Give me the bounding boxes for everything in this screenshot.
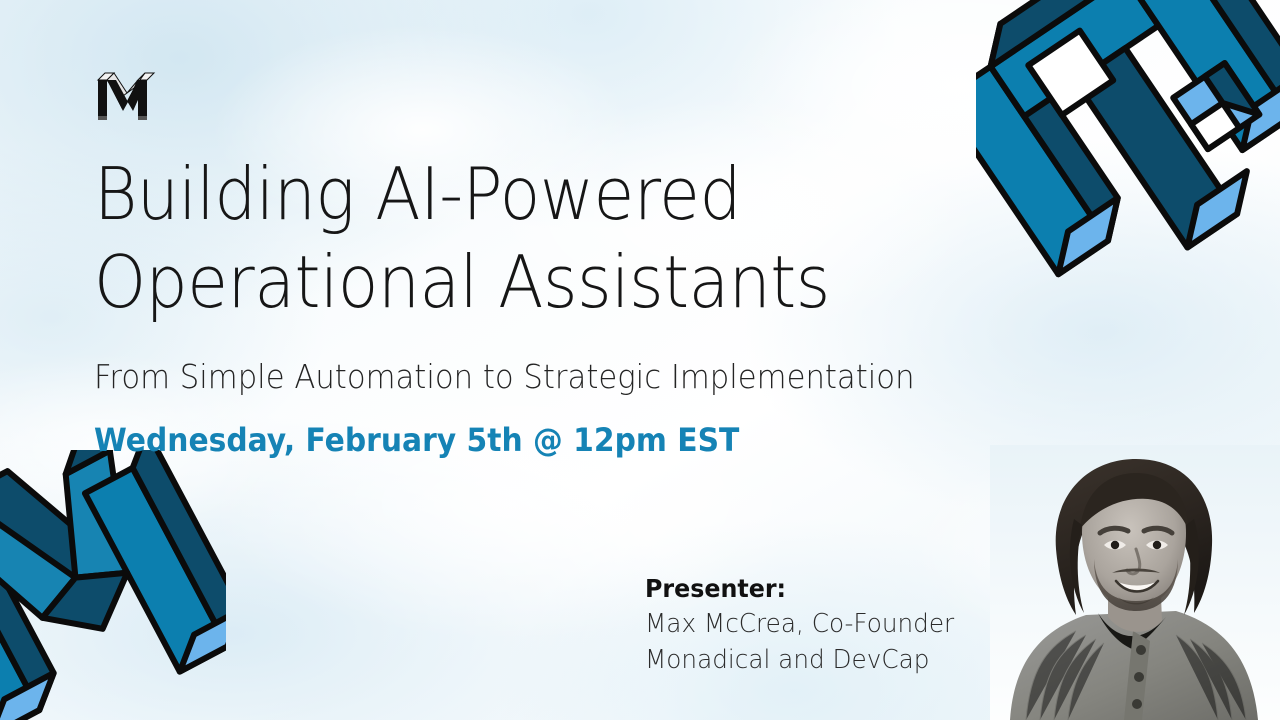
webinar-promo-slide: Building AI-Powered Operational Assistan… — [0, 0, 1280, 720]
presenter-name-role: Max McCrea, Co-Founder — [645, 606, 954, 642]
page-title-line-1: Building AI-Powered — [94, 150, 922, 238]
presenter-block: Presenter: Max McCrea, Co-Founder Monadi… — [645, 572, 970, 678]
monadical-m-wordmark-icon — [94, 68, 158, 128]
page-title-line-2: Operational Assistants — [94, 238, 922, 326]
event-datetime: Wednesday, February 5th @ 12pm EST — [94, 420, 931, 460]
page-subtitle: From Simple Automation to Strategic Impl… — [94, 356, 931, 398]
isometric-m-logo-bottom-left-icon — [0, 450, 226, 720]
presenter-headshot-photo — [990, 445, 1280, 720]
presenter-label: Presenter: — [645, 572, 954, 606]
headline-copy-block: Building AI-Powered Operational Assistan… — [94, 150, 994, 460]
presenter-company: Monadical and DevCap — [645, 642, 954, 678]
isometric-m-logo-top-right-icon — [976, 0, 1280, 314]
